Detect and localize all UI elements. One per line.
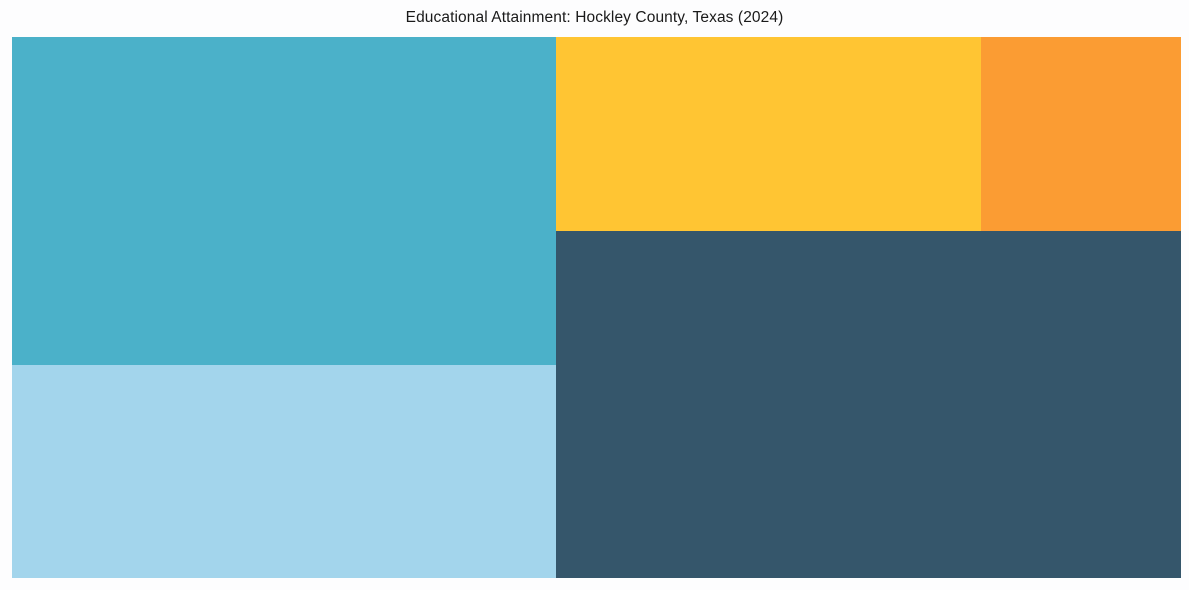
treemap-tile-less-than-9th-grade[interactable]: Less than 9th grade [556, 37, 981, 231]
treemap-figure: Educational Attainment: Hockley County, … [0, 0, 1189, 590]
chart-title: Educational Attainment: Hockley County, … [0, 0, 1189, 37]
treemap-tile-some-college-no-degree[interactable]: Some college, no degree [12, 365, 556, 578]
treemap-tile-high-school-graduate[interactable]: High school graduate (includes equivalen… [12, 37, 556, 365]
treemap-plot-area: High school graduate (includes equivalen… [12, 37, 1181, 578]
treemap-tile-9th-to-12th-grade-no-diploma[interactable]: 9th to 12th grade, no diploma [981, 37, 1181, 231]
treemap-tile-bachelors-degree-or-higher[interactable]: Bachelor's degree or higher [556, 231, 1181, 578]
